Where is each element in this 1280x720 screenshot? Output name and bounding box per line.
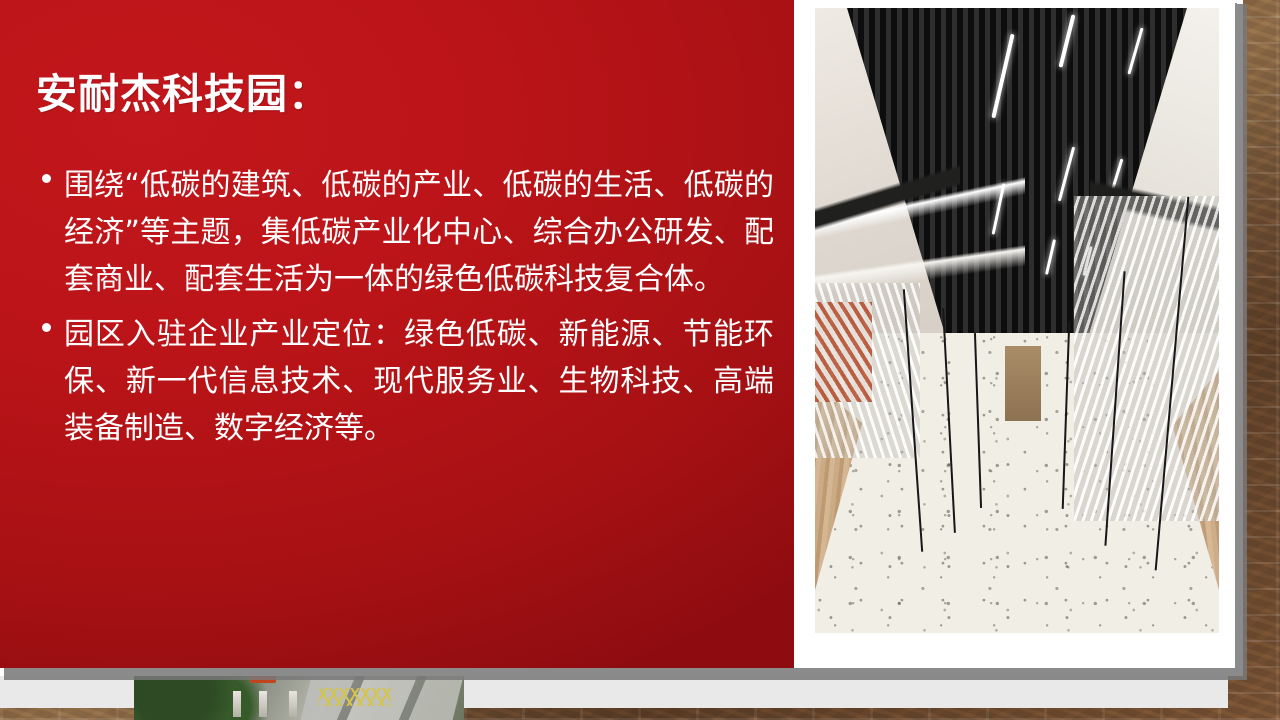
bullet-list: 围绕“低碳的建筑、低碳的产业、低碳的生活、低碳的经济”等主题，集低碳产业化中心、… (34, 162, 774, 460)
aerial-pier (233, 691, 241, 717)
photo-end-door (1005, 346, 1041, 421)
aerial-pier (289, 691, 297, 717)
list-item-text: 围绕“低碳的建筑、低碳的产业、低碳的生活、低碳的经济”等主题，集低碳产业化中心、… (64, 168, 774, 297)
content-panel: 安耐杰科技园： 围绕“低碳的建筑、低碳的产业、低碳的生活、低碳的经济”等主题，集… (0, 0, 794, 668)
bullet-dot-icon (42, 323, 51, 332)
corridor-photo (815, 8, 1219, 633)
photo-accent-panel (815, 302, 872, 402)
next-slide-peek-photo[interactable] (134, 672, 464, 720)
list-item: 围绕“低碳的建筑、低碳的产业、低碳的生活、低碳的经济”等主题，集低碳产业化中心、… (34, 162, 774, 303)
photo-frame[interactable] (804, 0, 1234, 668)
list-item-text: 园区入驻企业产业定位：绿色低碳、新能源、节能环保、新一代信息技术、现代服务业、生… (64, 317, 774, 446)
list-item: 园区入驻企业产业定位：绿色低碳、新能源、节能环保、新一代信息技术、现代服务业、生… (34, 311, 774, 452)
slide-shadow-right (1235, 4, 1243, 676)
slide-shadow-bottom (4, 668, 1243, 676)
page-title: 安耐杰科技园： (36, 70, 756, 119)
aerial-pier (259, 691, 267, 717)
bullet-dot-icon (42, 174, 51, 183)
photo-glass-partition-right (1074, 196, 1219, 521)
slide-canvas[interactable]: 安耐杰科技园： 围绕“低碳的建筑、低碳的产业、低碳的生活、低碳的经济”等主题，集… (0, 0, 1243, 676)
aerial-truss (319, 688, 392, 705)
